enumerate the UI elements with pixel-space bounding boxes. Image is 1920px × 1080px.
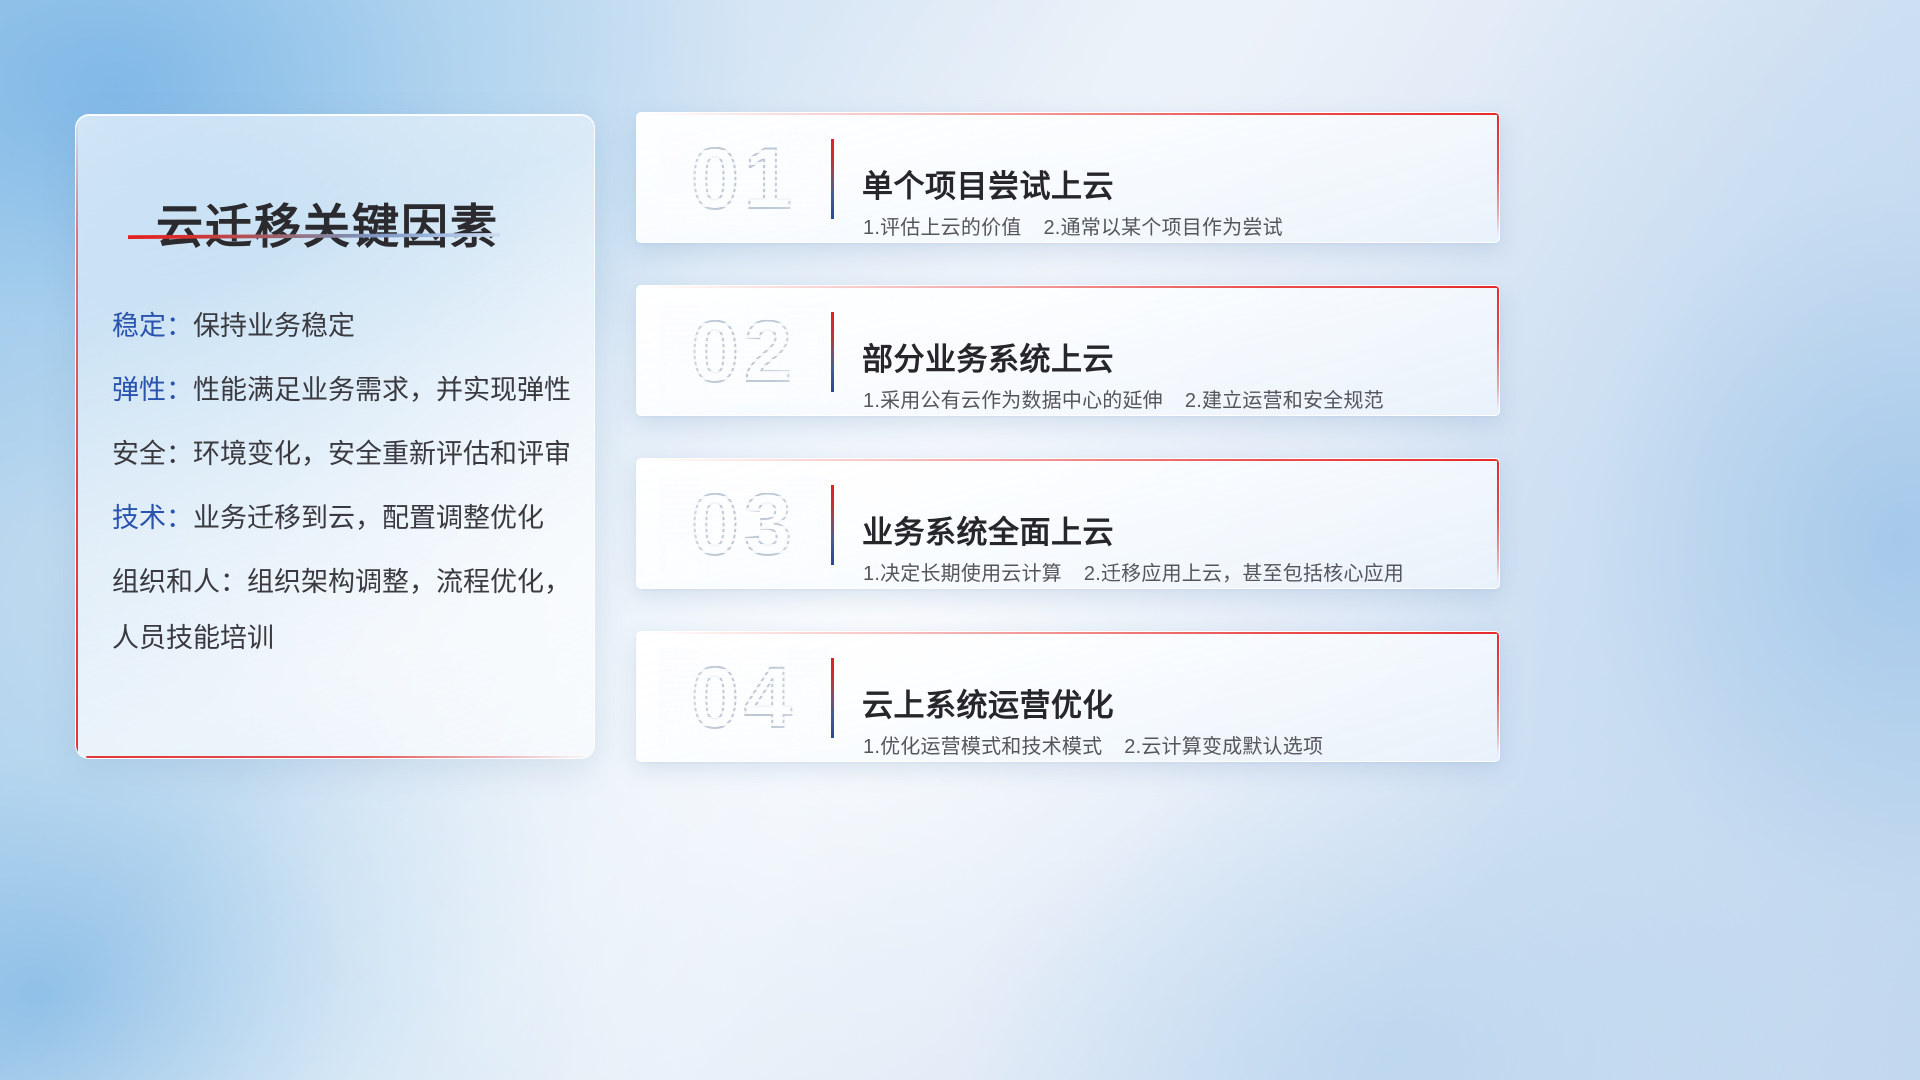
step-number-watermark: 01: [659, 129, 829, 229]
card-top-accent-line: [643, 113, 1499, 115]
step-title: 业务系统全面上云: [862, 507, 1114, 552]
factor-row: 组织和人：组织架构调整，流程优化，: [112, 569, 570, 596]
factor-label: 安全：: [112, 439, 193, 469]
step-description-item-2: 2.迁移应用上云，甚至包括核心应用: [1084, 563, 1404, 585]
factor-row: 技术：业务迁移到云，配置调整优化: [112, 505, 570, 532]
step-card[interactable]: 04云上系统运营优化1.优化运营模式和技术模式2.云计算变成默认选项: [636, 631, 1500, 762]
card-right-accent-line: [1497, 286, 1499, 409]
step-divider-bar: [831, 139, 834, 219]
factor-row: 安全：环境变化，安全重新评估和评审: [112, 441, 570, 468]
step-description: 1.优化运营模式和技术模式2.云计算变成默认选项: [863, 730, 1323, 759]
card-top-accent-line: [643, 632, 1499, 634]
key-factors-panel: 云迁移关键因素 稳定：保持业务稳定弹性：性能满足业务需求，并实现弹性安全：环境变…: [75, 114, 595, 759]
step-divider-bar: [831, 485, 834, 565]
step-description-item-1: 1.决定长期使用云计算: [863, 563, 1062, 585]
factor-text: 保持业务稳定: [193, 311, 355, 341]
step-description-item-2: 2.建立运营和安全规范: [1185, 390, 1384, 412]
step-number-watermark: 02: [659, 302, 829, 402]
step-description: 1.采用公有云作为数据中心的延伸2.建立运营和安全规范: [863, 384, 1384, 413]
factor-label: 稳定：: [112, 311, 193, 341]
step-title: 部分业务系统上云: [862, 334, 1114, 379]
factor-list: 稳定：保持业务稳定弹性：性能满足业务需求，并实现弹性安全：环境变化，安全重新评估…: [112, 313, 570, 652]
step-card[interactable]: 01单个项目尝试上云1.评估上云的价值2.通常以某个项目作为尝试: [636, 112, 1500, 243]
step-divider-bar: [831, 312, 834, 392]
factor-text: 环境变化，安全重新评估和评审: [193, 439, 571, 469]
factor-text: 组织架构调整，流程优化，: [247, 567, 571, 597]
step-description-item-1: 1.采用公有云作为数据中心的延伸: [863, 390, 1163, 412]
factor-row: 人员技能培训: [112, 625, 570, 652]
step-description: 1.评估上云的价值2.通常以某个项目作为尝试: [863, 211, 1283, 240]
factor-label: 弹性：: [112, 375, 193, 405]
step-card[interactable]: 02部分业务系统上云1.采用公有云作为数据中心的延伸2.建立运营和安全规范: [636, 285, 1500, 416]
step-card[interactable]: 03业务系统全面上云1.决定长期使用云计算2.迁移应用上云，甚至包括核心应用: [636, 458, 1500, 589]
card-top-accent-line: [643, 459, 1499, 461]
factor-label: 技术：: [112, 503, 193, 533]
slide-canvas: 云迁移关键因素 稳定：保持业务稳定弹性：性能满足业务需求，并实现弹性安全：环境变…: [0, 0, 1920, 1080]
step-description-item-1: 1.评估上云的价值: [863, 217, 1021, 239]
factor-text: 业务迁移到云，配置调整优化: [193, 503, 544, 533]
step-title: 单个项目尝试上云: [862, 161, 1114, 206]
factor-label: 组织和人：: [112, 567, 247, 597]
step-number-watermark: 04: [659, 648, 829, 748]
factor-row: 弹性：性能满足业务需求，并实现弹性: [112, 377, 570, 404]
card-right-accent-line: [1497, 113, 1499, 236]
step-number-watermark: 03: [659, 475, 829, 575]
step-divider-bar: [831, 658, 834, 738]
panel-title: 云迁移关键因素: [156, 188, 499, 257]
card-right-accent-line: [1497, 459, 1499, 582]
step-description-item-2: 2.通常以某个项目作为尝试: [1043, 217, 1282, 239]
factor-text: 性能满足业务需求，并实现弹性: [193, 375, 571, 405]
step-description-item-2: 2.云计算变成默认选项: [1124, 736, 1323, 758]
card-top-accent-line: [643, 286, 1499, 288]
factor-text: 人员技能培训: [112, 623, 274, 653]
factor-row: 稳定：保持业务稳定: [112, 313, 570, 340]
card-right-accent-line: [1497, 632, 1499, 755]
step-description-item-1: 1.优化运营模式和技术模式: [863, 736, 1102, 758]
step-description: 1.决定长期使用云计算2.迁移应用上云，甚至包括核心应用: [863, 557, 1404, 586]
step-title: 云上系统运营优化: [862, 680, 1114, 725]
